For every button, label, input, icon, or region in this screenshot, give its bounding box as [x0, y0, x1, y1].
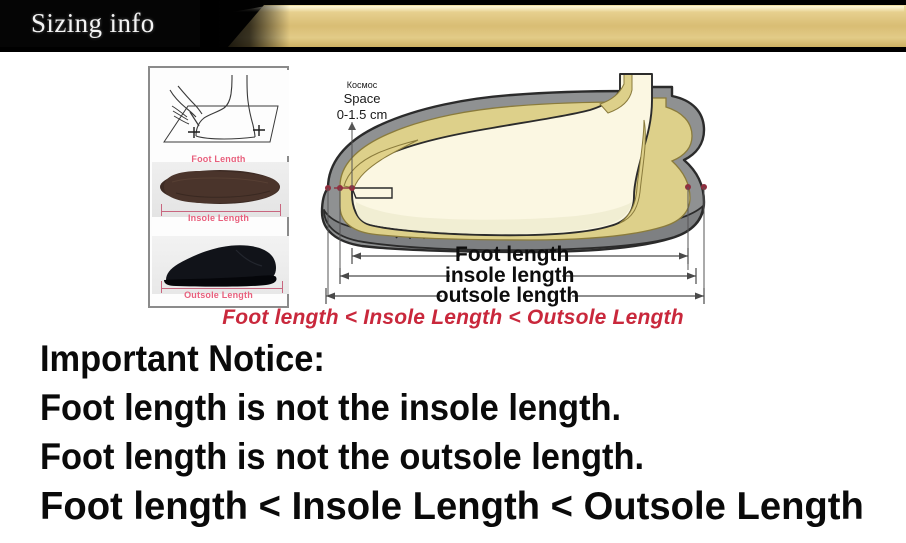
size-order-red-note: Foot length < Insole Length < Outsole Le…: [0, 306, 906, 330]
insole-dimension-line: [161, 211, 281, 212]
insole-photo: [152, 162, 289, 217]
shoe-side-photo: [152, 236, 289, 294]
dim-label-outsole-length: outsole length: [435, 284, 580, 308]
space-gap-label: Космос Space 0-1.5 cm: [316, 80, 408, 123]
left-caption-outsole-length: Outsole Length: [150, 290, 287, 300]
banner-black-fade: [200, 0, 290, 52]
banner-bottom-rule: [0, 47, 906, 52]
notice-line-title: Important Notice:: [40, 340, 845, 377]
banner-gold-ribbon: [228, 5, 906, 47]
sizing-info-banner: Sizing info: [0, 0, 906, 52]
hand-measuring-foot-illustration: [152, 70, 289, 156]
measurement-methods-panel: Foot Length Insole Length Outsole Length: [148, 66, 289, 308]
notice-line-insole: Foot length is not the insole length.: [40, 389, 845, 426]
foot-in-shoe-diagram: Космос Space 0-1.5 cm Foot length insole…: [300, 60, 900, 312]
outsole-dimension-line: [161, 288, 283, 289]
important-notice-block: Important Notice: Foot length is not the…: [40, 338, 906, 526]
space-label-range: 0-1.5 cm: [316, 107, 408, 123]
notice-line-ordering: Foot length < Insole Length < Outsole Le…: [40, 487, 889, 526]
space-label-kosmos: Космос: [316, 80, 408, 91]
notice-line-outsole: Foot length is not the outsole length.: [40, 438, 845, 475]
space-label-space: Space: [316, 91, 408, 107]
left-caption-insole-length: Insole Length: [150, 213, 287, 223]
banner-title: Sizing info: [31, 8, 155, 39]
